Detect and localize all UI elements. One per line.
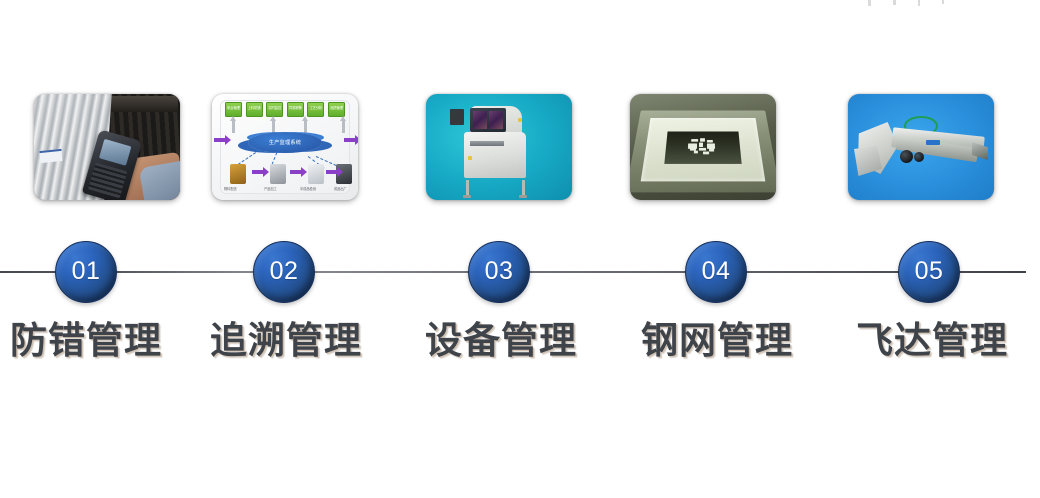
- stencil-aperture: [699, 143, 703, 147]
- aoi-inspection-machine-photo: [426, 94, 572, 200]
- diagram-flow-arrow-2: [326, 170, 337, 174]
- smt-stencil-photo: [630, 94, 776, 200]
- timeline-node-circle-05: 05: [898, 241, 960, 303]
- diagram-box-3: 异常报警: [287, 102, 304, 117]
- timeline-node-04[interactable]: 04: [685, 241, 747, 303]
- timeline-node-circle-03: 03: [468, 241, 530, 303]
- diagram-caption-2: 半成品检测: [300, 186, 316, 191]
- scanner-screen: [99, 139, 131, 166]
- stencil-aperture: [694, 151, 698, 154]
- diagram-node-product-processing: [270, 164, 286, 184]
- timeline-label-01[interactable]: 防错管理: [0, 318, 191, 364]
- timeline-node-number-05: 05: [915, 259, 944, 284]
- thumbnail-production-monitoring-diagram[interactable]: 机台管理 上料防错 实时监控 异常报警 工艺分析 品质管理 生产监理系统: [212, 94, 358, 200]
- thumbnail-rfid-handheld-scanner-photo[interactable]: [34, 94, 180, 200]
- diagram-top-box-row: 机台管理 上料防错 实时监控 异常报警 工艺分析 品质管理: [225, 102, 345, 117]
- diagram-flow-arrow-in: [214, 138, 225, 142]
- diagram-node-semi-finished-test: [308, 164, 324, 184]
- timeline-node-circle-01: 01: [55, 241, 117, 303]
- aoi-monitor-screen-right: [489, 111, 503, 129]
- timeline-node-circle-02: 02: [253, 241, 315, 303]
- diagram-box-1: 上料防错: [246, 102, 263, 117]
- aoi-leg-left: [466, 180, 469, 196]
- stencil-aperture: [709, 148, 714, 152]
- timeline-label-03[interactable]: 设备管理: [396, 318, 606, 364]
- aoi-warning-label: [468, 156, 472, 160]
- diagram-caption-3: 成品出厂: [334, 186, 347, 191]
- stencil-inner-frame: [641, 118, 766, 181]
- production-monitoring-diagram: 机台管理 上料防错 实时监控 异常报警 工艺分析 品质管理 生产监理系统: [212, 94, 358, 200]
- timeline-node-05[interactable]: 05: [898, 241, 960, 303]
- diagram-node-material-delivery: [230, 164, 246, 184]
- aoi-leg-right: [522, 180, 525, 196]
- stencil-tension-edge: [660, 165, 747, 169]
- diagram-flow-arrow-out: [344, 138, 355, 142]
- diagram-caption-0: 物料配送: [224, 186, 237, 191]
- diagram-box-4: 工艺分析: [307, 102, 324, 117]
- stencil-foil-mesh: [664, 132, 741, 164]
- stencil-aperture: [707, 140, 713, 143]
- timeline-node-circle-04: 04: [685, 241, 747, 303]
- rfid-handheld-scanner-photo: [34, 94, 180, 200]
- diagram-box-0: 机台管理: [225, 102, 242, 117]
- thumbnail-aoi-inspection-machine-photo[interactable]: [426, 94, 572, 200]
- scanner-keypad: [88, 162, 127, 198]
- diagram-box-2: 实时监控: [266, 102, 283, 117]
- timeline-node-number-04: 04: [702, 259, 731, 284]
- timeline-node-number-01: 01: [72, 259, 101, 284]
- aoi-machine-front-panel: [450, 109, 464, 125]
- stencil-outer-frame: [630, 111, 776, 193]
- timeline-label-04[interactable]: 钢网管理: [612, 318, 822, 364]
- diagram-flow-arrow-0: [252, 170, 263, 174]
- feeder-sprocket-small: [914, 152, 924, 162]
- timeline-label-05[interactable]: 飞达管理: [827, 318, 1037, 364]
- aoi-machine-monitor: [470, 108, 506, 132]
- feeder-blue-label: [926, 140, 940, 145]
- timeline-node-number-03: 03: [485, 259, 514, 284]
- thumbnail-smt-stencil-photo[interactable]: [630, 94, 776, 200]
- diagram-up-arrow-3: [342, 120, 345, 133]
- stencil-aperture: [691, 139, 698, 142]
- timeline-node-03[interactable]: 03: [468, 241, 530, 303]
- smt-feeder-photo: [848, 94, 994, 200]
- pallet-label-tag: [39, 149, 62, 163]
- diagram-box-5: 品质管理: [328, 102, 345, 117]
- aoi-indicator-label: [518, 118, 522, 122]
- aoi-foot-right: [519, 195, 527, 198]
- aoi-monitor-screen-left: [473, 111, 487, 129]
- stencil-aperture: [703, 152, 709, 155]
- timeline-label-02[interactable]: 追溯管理: [181, 318, 391, 364]
- aoi-foot-left: [463, 195, 471, 198]
- top-crop-artifacts: [868, 0, 988, 6]
- stencil-aperture: [700, 138, 705, 141]
- diagram-caption-1: 产品加工: [264, 186, 277, 191]
- thumbnail-smt-feeder-photo[interactable]: [848, 94, 994, 200]
- timeline-node-02[interactable]: 02: [253, 241, 315, 303]
- timeline-node-number-02: 02: [270, 259, 299, 284]
- feeder-sprocket-large: [900, 150, 913, 163]
- timeline-node-01[interactable]: 01: [55, 241, 117, 303]
- diagram-up-arrow-0: [232, 120, 235, 133]
- diagram-flow-arrow-1: [290, 170, 301, 174]
- thumbnail-row: 机台管理 上料防错 实时监控 异常报警 工艺分析 品质管理 生产监理系统: [0, 94, 1040, 204]
- aoi-machine-body: [464, 132, 526, 178]
